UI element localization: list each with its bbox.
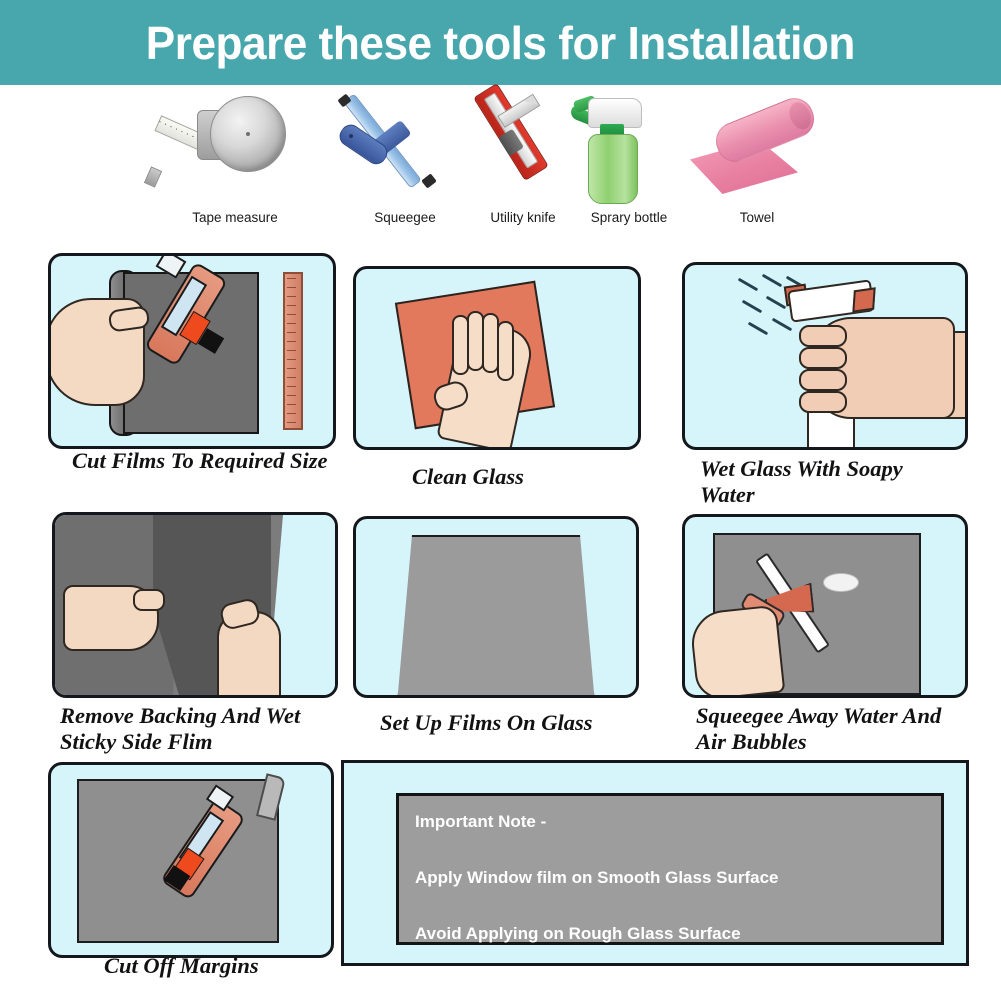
tool-label: Towel [686,210,828,225]
spray-line [772,318,793,332]
tape-measure-body [210,96,286,172]
finger [799,391,847,413]
hand-left-pinch [133,589,165,611]
header-banner: Prepare these tools for Installation [0,0,1001,85]
tool-label: Tape measure [155,210,315,225]
note-line-2: Avoid Applying on Rough Glass Surface [415,924,941,944]
step-caption-1: Cut Films To Required Size [72,448,332,474]
spray-line [742,300,763,314]
step-panel-1 [48,253,336,449]
hand [689,605,786,698]
step-panel-3 [682,262,968,450]
step-caption-4: Remove Backing And Wet Sticky Side Flim [60,703,360,755]
finger [799,369,847,391]
step-caption-3: Wet Glass With Soapy Water [700,456,950,508]
page-title: Prepare these tools for Installation [146,16,855,70]
film-sheet [396,535,596,698]
step-panel-4 [52,512,338,698]
spray-bottle-body [588,134,638,204]
infographic-root: Prepare these tools for Installation Tap… [0,0,1001,1001]
spray-line [766,296,787,310]
air-bubble [823,573,859,592]
note-title: Important Note - [415,812,941,832]
finger [799,325,847,347]
note-line-1: Apply Window film on Smooth Glass Surfac… [415,868,941,888]
finger [799,347,847,369]
hand-fingers [452,315,510,371]
step-panel-5 [353,516,639,698]
ruler [283,272,303,430]
bottle-trigger-top [852,287,875,312]
step-panel-2 [353,266,641,450]
step-caption-6: Squeegee Away Water And Air Bubbles [696,703,966,755]
finger [497,321,514,381]
important-note-panel: Important Note - Apply Window film on Sm… [341,760,969,966]
towel-icon [686,88,828,208]
hand-fingers [799,325,845,411]
spray-line [762,274,783,288]
tool-spray-bottle: Sprary bottle [558,88,700,225]
tool-label: Sprary bottle [558,210,700,225]
squeegee-cap-right [421,173,437,188]
spray-line [748,322,769,336]
important-note-box: Important Note - Apply Window film on Sm… [396,793,944,945]
step-panel-7 [48,762,334,958]
tools-row: Tape measure Squeegee Utility knife [0,88,1001,250]
step-caption-2: Clean Glass [412,464,652,490]
spray-bottle-icon [558,88,700,208]
tape-measure-hook [144,166,162,187]
step-caption-5: Set Up Films On Glass [380,710,660,736]
tool-tape-measure: Tape measure [155,88,315,225]
spray-line [738,278,759,292]
step-caption-7: Cut Off Margins [104,953,344,979]
tool-towel: Towel [686,88,828,225]
step-panel-6 [682,514,968,698]
tape-measure-icon [155,88,315,208]
